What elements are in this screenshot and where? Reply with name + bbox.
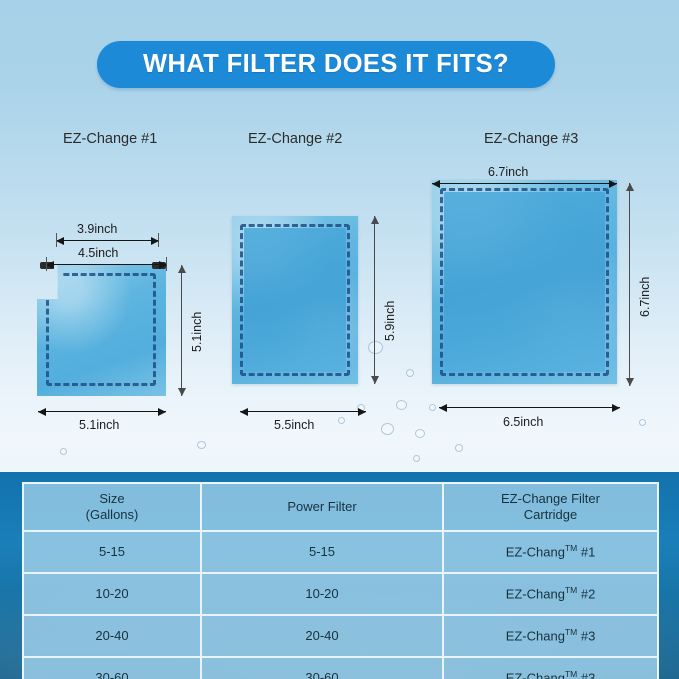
bubble-icon [338,417,345,424]
filter-cartridge-2-image [232,216,358,384]
diagram-area: WHAT FILTER DOES IT FITS? EZ-Change #1 E… [0,0,679,472]
page-title: WHAT FILTER DOES IT FITS? [97,41,555,88]
table-header-cartridge-line1: EZ-Change Filter [445,491,656,507]
table-header-power-filter-line1: Power Filter [203,499,441,515]
dimension-arrow-f1-top-inner [46,264,167,265]
cell-size: 5-15 [23,531,201,573]
table-header-size-line2: (Gallons) [25,507,199,523]
cartridge-name: EZ-Chang [506,671,565,679]
bubble-icon [406,369,414,377]
trademark-mark: TM [565,585,577,595]
compatibility-table: Size (Gallons) Power Filter EZ-Change Fi… [22,482,659,679]
dimension-arrow-f1-side [181,265,182,396]
bubble-icon [415,429,425,438]
bubble-icon [455,444,463,452]
product-infographic: WHAT FILTER DOES IT FITS? EZ-Change #1 E… [0,0,679,679]
cell-power-filter: 10-20 [201,573,443,615]
dimension-arrow-f1-bottom [38,411,166,412]
cartridge-number: #2 [581,587,595,602]
product-caption-2: EZ-Change #2 [248,131,342,147]
trademark-mark: TM [565,669,577,679]
cell-size: 20-40 [23,615,201,657]
cell-cartridge: EZ-ChangTM #2 [443,573,658,615]
bubble-icon [381,423,394,435]
table-row: 30-60 30-60 EZ-ChangTM #3 [23,657,658,679]
dimension-label-f1-top-outer: 3.9inch [77,222,117,236]
dimension-label-f3-top: 6.7inch [488,165,528,179]
cell-cartridge: EZ-ChangTM #3 [443,657,658,679]
cartridge-number: #3 [581,629,595,644]
dimension-arrow-f2-side [374,216,375,384]
table-row: 5-15 5-15 EZ-ChangTM #1 [23,531,658,573]
dimension-label-f1-bottom: 5.1inch [79,418,119,432]
dimension-label-f1-side: 5.1inch [190,312,204,352]
bubble-icon [429,404,436,411]
table-row: 10-20 10-20 EZ-ChangTM #2 [23,573,658,615]
cartridge-name: EZ-Chang [506,545,565,560]
trademark-mark: TM [565,627,577,637]
cartridge-number: #1 [581,545,595,560]
dimension-label-f2-side: 5.9inch [383,301,397,341]
dimension-arrow-f2-bottom [240,411,366,412]
table-header-size-line1: Size [25,491,199,507]
compatibility-table-section: Size (Gallons) Power Filter EZ-Change Fi… [0,472,679,679]
bubble-icon [197,441,206,449]
filter-cartridge-1-image [37,265,166,396]
product-caption-1: EZ-Change #1 [63,131,157,147]
dimension-arrow-f3-bottom [439,407,620,408]
dimension-label-f2-bottom: 5.5inch [274,418,314,432]
cell-cartridge: EZ-ChangTM #3 [443,615,658,657]
cell-power-filter: 5-15 [201,531,443,573]
dimension-label-f1-top-inner: 4.5inch [78,246,118,260]
cell-size: 10-20 [23,573,201,615]
table-row: 20-40 20-40 EZ-ChangTM #3 [23,615,658,657]
cell-power-filter: 20-40 [201,615,443,657]
cell-power-filter: 30-60 [201,657,443,679]
bubble-icon [396,400,407,410]
page-title-text: WHAT FILTER DOES IT FITS? [143,50,509,79]
table-header-row: Size (Gallons) Power Filter EZ-Change Fi… [23,483,658,531]
table-header-power-filter: Power Filter [201,483,443,531]
table-header-size: Size (Gallons) [23,483,201,531]
cell-size: 30-60 [23,657,201,679]
filter-cartridge-3-image [432,180,617,384]
product-caption-3: EZ-Change #3 [484,131,578,147]
table-header-cartridge-line2: Cartridge [445,507,656,523]
cartridge-number: #3 [581,671,595,679]
cartridge-name: EZ-Chang [506,629,565,644]
dimension-arrow-f3-side [629,183,630,386]
bubble-icon [413,455,420,462]
dimension-label-f3-side: 6.7inch [638,277,652,317]
table-header-cartridge: EZ-Change Filter Cartridge [443,483,658,531]
bubble-icon [60,448,67,455]
bubble-icon [639,419,646,426]
trademark-mark: TM [565,543,577,553]
filter-1-stitching [46,273,156,386]
cell-cartridge: EZ-ChangTM #1 [443,531,658,573]
dimension-arrow-f3-top [432,183,617,184]
cartridge-name: EZ-Chang [506,587,565,602]
bubble-icon [368,341,383,354]
dimension-label-f3-bottom: 6.5inch [503,415,543,429]
dimension-arrow-f1-top-outer [56,240,159,241]
